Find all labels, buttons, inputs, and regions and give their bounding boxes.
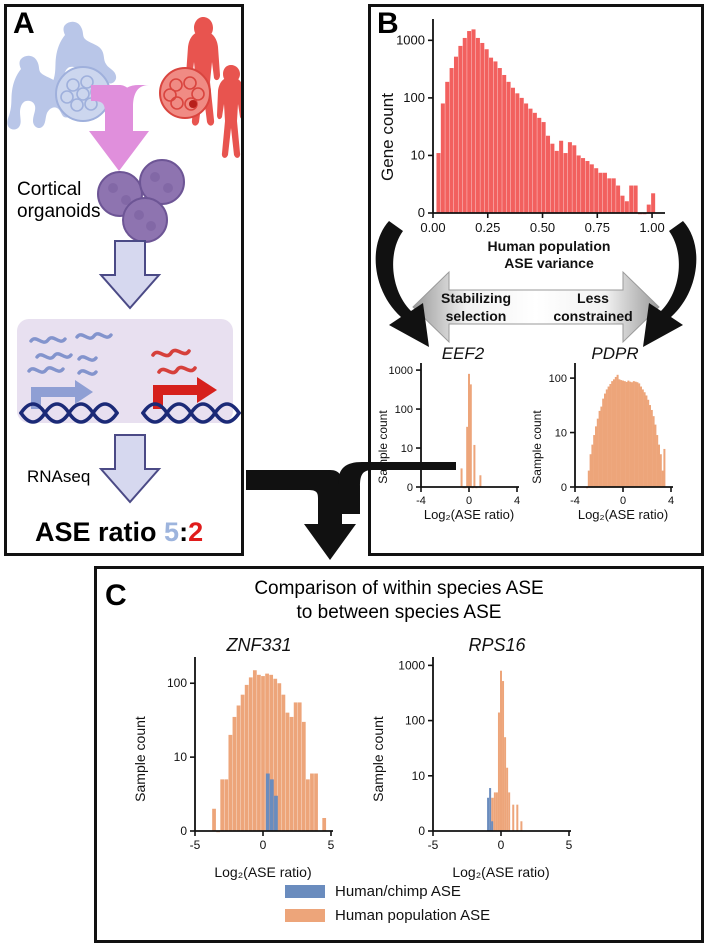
legend-label: Human population ASE bbox=[335, 907, 490, 924]
histogram-bar bbox=[306, 779, 310, 831]
y-tick-label: 100 bbox=[403, 90, 425, 105]
histogram-bar bbox=[508, 792, 510, 831]
x-tick-label: 0.00 bbox=[420, 220, 445, 235]
y-tick-label: 0 bbox=[407, 482, 413, 494]
panel-c: C Comparison of within species ASE to be… bbox=[94, 566, 704, 943]
histogram-bar bbox=[473, 445, 475, 487]
x-tick-label: 0.50 bbox=[530, 220, 555, 235]
histogram-bar bbox=[515, 93, 519, 213]
x-axis-title: Log₂(ASE ratio) bbox=[578, 507, 668, 522]
selection-spectrum-arrow bbox=[413, 272, 659, 342]
y-axis-title: Sample count bbox=[370, 716, 386, 802]
less-constrained-label: constrained bbox=[553, 308, 632, 324]
x-axis-title: Log₂(ASE ratio) bbox=[452, 864, 549, 880]
stabilizing-selection-label: selection bbox=[446, 308, 507, 324]
y-tick-label: 100 bbox=[549, 373, 567, 385]
histogram-bar bbox=[454, 57, 458, 213]
histogram-bar bbox=[662, 471, 664, 487]
x-tick-label: -5 bbox=[428, 838, 439, 852]
histogram-bar bbox=[314, 774, 318, 831]
merge-arrow-to-panel-c-icon bbox=[246, 470, 356, 560]
y-tick-label: 0 bbox=[418, 205, 425, 220]
histogram-bar bbox=[512, 805, 514, 831]
histogram-bar bbox=[636, 382, 638, 487]
histogram-bar bbox=[487, 798, 489, 831]
x-tick-label: -4 bbox=[416, 495, 426, 507]
histogram-bar bbox=[472, 29, 476, 213]
histogram-bar bbox=[249, 677, 253, 831]
ase-ratio-denominator: 2 bbox=[188, 517, 203, 547]
x-axis-title: Human population bbox=[488, 238, 611, 254]
histogram-bar bbox=[647, 205, 651, 213]
histogram-bar bbox=[286, 713, 290, 831]
histogram-bar bbox=[458, 46, 462, 213]
x-axis-title: Log₂(ASE ratio) bbox=[214, 864, 311, 880]
histogram-bar bbox=[480, 43, 484, 213]
histogram-bar bbox=[502, 75, 506, 213]
panel-a-label: A bbox=[13, 9, 35, 39]
histogram-bar bbox=[537, 118, 541, 213]
histogram-bar bbox=[651, 410, 653, 487]
y-tick-label: 1000 bbox=[396, 32, 425, 47]
histogram-bar bbox=[261, 676, 265, 831]
histogram-bar bbox=[644, 392, 646, 487]
y-axis-title: Sample count bbox=[132, 716, 148, 802]
histogram-bar bbox=[620, 380, 622, 487]
histogram-bar bbox=[620, 196, 624, 213]
histogram-bar bbox=[591, 445, 593, 487]
histogram-bar bbox=[627, 381, 629, 487]
histogram-bar bbox=[257, 675, 261, 831]
x-axis-title: Log₂(ASE ratio) bbox=[424, 507, 514, 522]
histogram-bar bbox=[607, 178, 611, 213]
gene-title-rps16: RPS16 bbox=[468, 635, 526, 655]
histogram-bar bbox=[629, 382, 631, 487]
histogram-bar bbox=[654, 425, 656, 487]
y-tick-label: 1000 bbox=[389, 365, 413, 377]
y-tick-label: 10 bbox=[174, 750, 188, 764]
histogram-bar bbox=[581, 158, 585, 213]
histogram-bar bbox=[609, 384, 611, 487]
histogram-bar bbox=[613, 379, 615, 487]
rnaseq-label: RNAseq bbox=[27, 467, 90, 487]
histogram-bar bbox=[277, 683, 281, 831]
y-tick-label: 10 bbox=[411, 147, 425, 162]
ase-ratio-numerator: 5 bbox=[164, 517, 179, 547]
histogram-bar bbox=[282, 695, 286, 831]
histogram-bar bbox=[466, 427, 468, 487]
histogram-bar bbox=[494, 792, 496, 831]
histogram-bar bbox=[270, 779, 274, 831]
histogram-bar bbox=[597, 419, 599, 487]
x-tick-label: 0.25 bbox=[475, 220, 500, 235]
panel-b-label: B bbox=[377, 9, 399, 39]
organoid-icon bbox=[98, 160, 184, 242]
histogram-bar bbox=[588, 471, 590, 487]
y-tick-label: 100 bbox=[405, 714, 425, 728]
legend-label: Human/chimp ASE bbox=[335, 883, 461, 900]
histogram-bar bbox=[489, 788, 491, 831]
histogram-bar bbox=[602, 399, 604, 487]
histogram-bar bbox=[212, 809, 216, 831]
histogram-bar bbox=[585, 161, 589, 213]
histogram-bar bbox=[647, 400, 649, 487]
histogram-bar bbox=[631, 382, 633, 487]
histogram-bar bbox=[600, 407, 602, 487]
x-tick-label: 0 bbox=[498, 838, 505, 852]
panel-c-graphic: ZNF331010100-505Sample countLog₂(ASE rat… bbox=[97, 629, 701, 939]
histogram-bar bbox=[511, 88, 515, 213]
histogram-bar bbox=[441, 103, 445, 213]
histogram-bar bbox=[624, 381, 626, 487]
histogram-bar bbox=[599, 411, 601, 487]
histogram-bar bbox=[658, 445, 660, 487]
histogram-bar bbox=[660, 454, 662, 487]
histogram-bar bbox=[612, 178, 616, 213]
histogram-bar bbox=[599, 173, 603, 213]
y-tick-label: 100 bbox=[167, 676, 187, 690]
histogram-bar bbox=[468, 374, 470, 487]
curved-arrow-to-pdpr-icon bbox=[643, 221, 696, 347]
x-tick-label: 5 bbox=[328, 838, 335, 852]
panelC-RPS16: 0101001000-505 bbox=[398, 657, 572, 852]
panelC-ZNF331: 010100-505 bbox=[167, 657, 335, 852]
panelB-PDPR: 010100-404 bbox=[549, 363, 674, 507]
histogram-bar bbox=[310, 774, 314, 831]
histogram-bar bbox=[274, 796, 278, 831]
histogram-bar bbox=[493, 61, 497, 213]
gene-title-znf331: ZNF331 bbox=[225, 635, 291, 655]
histogram-bar bbox=[476, 38, 480, 213]
histogram-bar bbox=[633, 381, 635, 487]
x-tick-label: 1.00 bbox=[639, 220, 664, 235]
x-tick-label: -5 bbox=[190, 838, 201, 852]
histogram-bar bbox=[489, 58, 493, 213]
y-tick-label: 100 bbox=[395, 404, 413, 416]
x-tick-label: 0 bbox=[620, 495, 626, 507]
y-tick-label: 10 bbox=[555, 428, 567, 440]
histogram-bar bbox=[572, 145, 576, 213]
histogram-bar bbox=[638, 383, 640, 487]
down-arrow-icon bbox=[101, 435, 159, 502]
x-tick-label: -4 bbox=[570, 495, 580, 507]
y-tick-label: 1000 bbox=[398, 658, 425, 672]
histogram-bar bbox=[253, 670, 257, 831]
x-tick-label: 0 bbox=[260, 838, 267, 852]
histogram-bar bbox=[590, 454, 592, 487]
histogram-bar bbox=[640, 387, 642, 487]
histogram-bar bbox=[516, 805, 518, 831]
histogram-bar bbox=[603, 173, 607, 213]
legend-swatch bbox=[285, 885, 325, 898]
histogram-bar bbox=[233, 717, 237, 831]
panel-b: B 01010010000.000.250.500.751.00Gene cou… bbox=[368, 4, 704, 556]
x-tick-label: 4 bbox=[514, 495, 520, 507]
histogram-bar bbox=[594, 168, 598, 213]
histogram-bar bbox=[568, 142, 572, 213]
histogram-bar bbox=[520, 821, 522, 831]
histogram-bar bbox=[642, 389, 644, 487]
histogram-bar bbox=[608, 387, 610, 487]
histogram-bar bbox=[634, 186, 638, 213]
x-tick-label: 5 bbox=[566, 838, 573, 852]
histogram-bar bbox=[504, 737, 506, 831]
y-tick-label: 10 bbox=[401, 443, 413, 455]
histogram-bar bbox=[507, 82, 511, 213]
histogram-bar bbox=[542, 122, 546, 213]
histogram-bar bbox=[615, 377, 617, 487]
histogram-bar bbox=[470, 384, 472, 487]
histogram-bar bbox=[533, 113, 537, 213]
histogram-bar bbox=[555, 151, 559, 213]
gene-title-eef2: EEF2 bbox=[442, 344, 485, 363]
histogram-bar bbox=[298, 702, 302, 831]
panelB-EEF2: 0101001000-404 bbox=[389, 363, 521, 507]
histogram-bar bbox=[651, 193, 655, 213]
ase-ratio-text: ASE ratio bbox=[35, 517, 157, 547]
histogram-bar bbox=[629, 186, 633, 213]
histogram-bar bbox=[626, 382, 628, 487]
gene-title-pdpr: PDPR bbox=[591, 344, 638, 363]
histogram-bar bbox=[450, 68, 454, 213]
histogram-bar bbox=[653, 416, 655, 487]
histogram-bar bbox=[635, 382, 637, 487]
y-axis-title: Gene count bbox=[378, 93, 397, 181]
histogram-bar bbox=[622, 381, 624, 487]
cortical-organoids-label: Cortical organoids bbox=[17, 179, 100, 223]
histogram-bar bbox=[463, 38, 467, 213]
histogram-bar bbox=[617, 375, 619, 487]
histogram-bar bbox=[550, 144, 554, 213]
histogram-bar bbox=[528, 109, 532, 213]
histogram-bar bbox=[461, 468, 463, 487]
histogram-bar bbox=[228, 735, 232, 831]
histogram-bar bbox=[491, 821, 493, 831]
histogram-bar bbox=[595, 426, 597, 487]
histogram-bar bbox=[663, 449, 665, 487]
histogram-bar bbox=[590, 164, 594, 213]
histogram-bar bbox=[559, 141, 563, 213]
histogram-bar bbox=[445, 82, 449, 213]
histogram-bar bbox=[618, 379, 620, 487]
histogram-bar bbox=[237, 705, 241, 831]
ase-ratio-readout: ASE ratio 5:2 bbox=[35, 517, 203, 548]
stabilizing-selection-label: Stabilizing bbox=[441, 290, 511, 306]
less-constrained-label: Less bbox=[577, 290, 609, 306]
histogram-bar bbox=[611, 381, 613, 487]
histogram-bar bbox=[498, 68, 502, 213]
histogram-bar bbox=[524, 103, 528, 213]
histogram-bar bbox=[302, 722, 306, 831]
histogram-bar bbox=[604, 394, 606, 487]
histogram-bar bbox=[496, 792, 498, 831]
histogram-bar bbox=[498, 713, 500, 831]
histogram-bar bbox=[224, 779, 228, 831]
x-axis-title: ASE variance bbox=[504, 255, 594, 271]
histogram-bar bbox=[506, 768, 508, 831]
histogram-bar bbox=[625, 201, 629, 213]
y-tick-label: 0 bbox=[561, 482, 567, 494]
histogram-bar bbox=[266, 774, 270, 831]
histogram-bar bbox=[241, 695, 245, 831]
histogram-bar bbox=[500, 671, 502, 831]
histogram-bar bbox=[502, 681, 504, 831]
y-tick-label: 0 bbox=[180, 824, 187, 838]
histogram-bar bbox=[436, 153, 440, 213]
y-tick-label: 0 bbox=[418, 824, 425, 838]
histogram-bar bbox=[467, 31, 471, 213]
histogram-bar bbox=[245, 685, 249, 831]
histogram-bar bbox=[656, 435, 658, 487]
ase-ratio-separator: : bbox=[179, 517, 188, 547]
y-tick-label: 10 bbox=[412, 769, 426, 783]
y-axis-title: Sample count bbox=[376, 410, 390, 484]
histogram-bar bbox=[220, 779, 224, 831]
histogram-bar bbox=[520, 98, 524, 213]
histogram-bar bbox=[479, 475, 481, 487]
down-arrow-icon bbox=[101, 241, 159, 308]
panelB-variance-hist: 01010010000.000.250.500.751.00 bbox=[396, 19, 665, 235]
x-tick-label: 0 bbox=[466, 495, 472, 507]
histogram-bar bbox=[294, 702, 298, 831]
y-axis-title: Sample count bbox=[530, 410, 544, 484]
histogram-bar bbox=[485, 49, 489, 213]
histogram-bar bbox=[564, 153, 568, 213]
histogram-bar bbox=[546, 136, 550, 213]
histogram-bar bbox=[616, 186, 620, 213]
legend-swatch bbox=[285, 909, 325, 922]
x-tick-label: 4 bbox=[668, 495, 674, 507]
panel-b-graphic: 01010010000.000.250.500.751.00Gene count… bbox=[371, 7, 701, 553]
histogram-bar bbox=[645, 395, 647, 487]
histogram-bar bbox=[649, 405, 651, 487]
histogram-bar bbox=[593, 435, 595, 487]
histogram-bar bbox=[290, 717, 294, 831]
panel-c-title: Comparison of within species ASE to betw… bbox=[97, 577, 701, 625]
histogram-bar bbox=[322, 818, 326, 831]
histogram-bar bbox=[577, 155, 581, 213]
curved-arrow-to-eef2-icon bbox=[376, 221, 429, 347]
panel-a: A bbox=[4, 4, 244, 556]
histogram-bar bbox=[606, 389, 608, 487]
x-tick-label: 0.75 bbox=[585, 220, 610, 235]
